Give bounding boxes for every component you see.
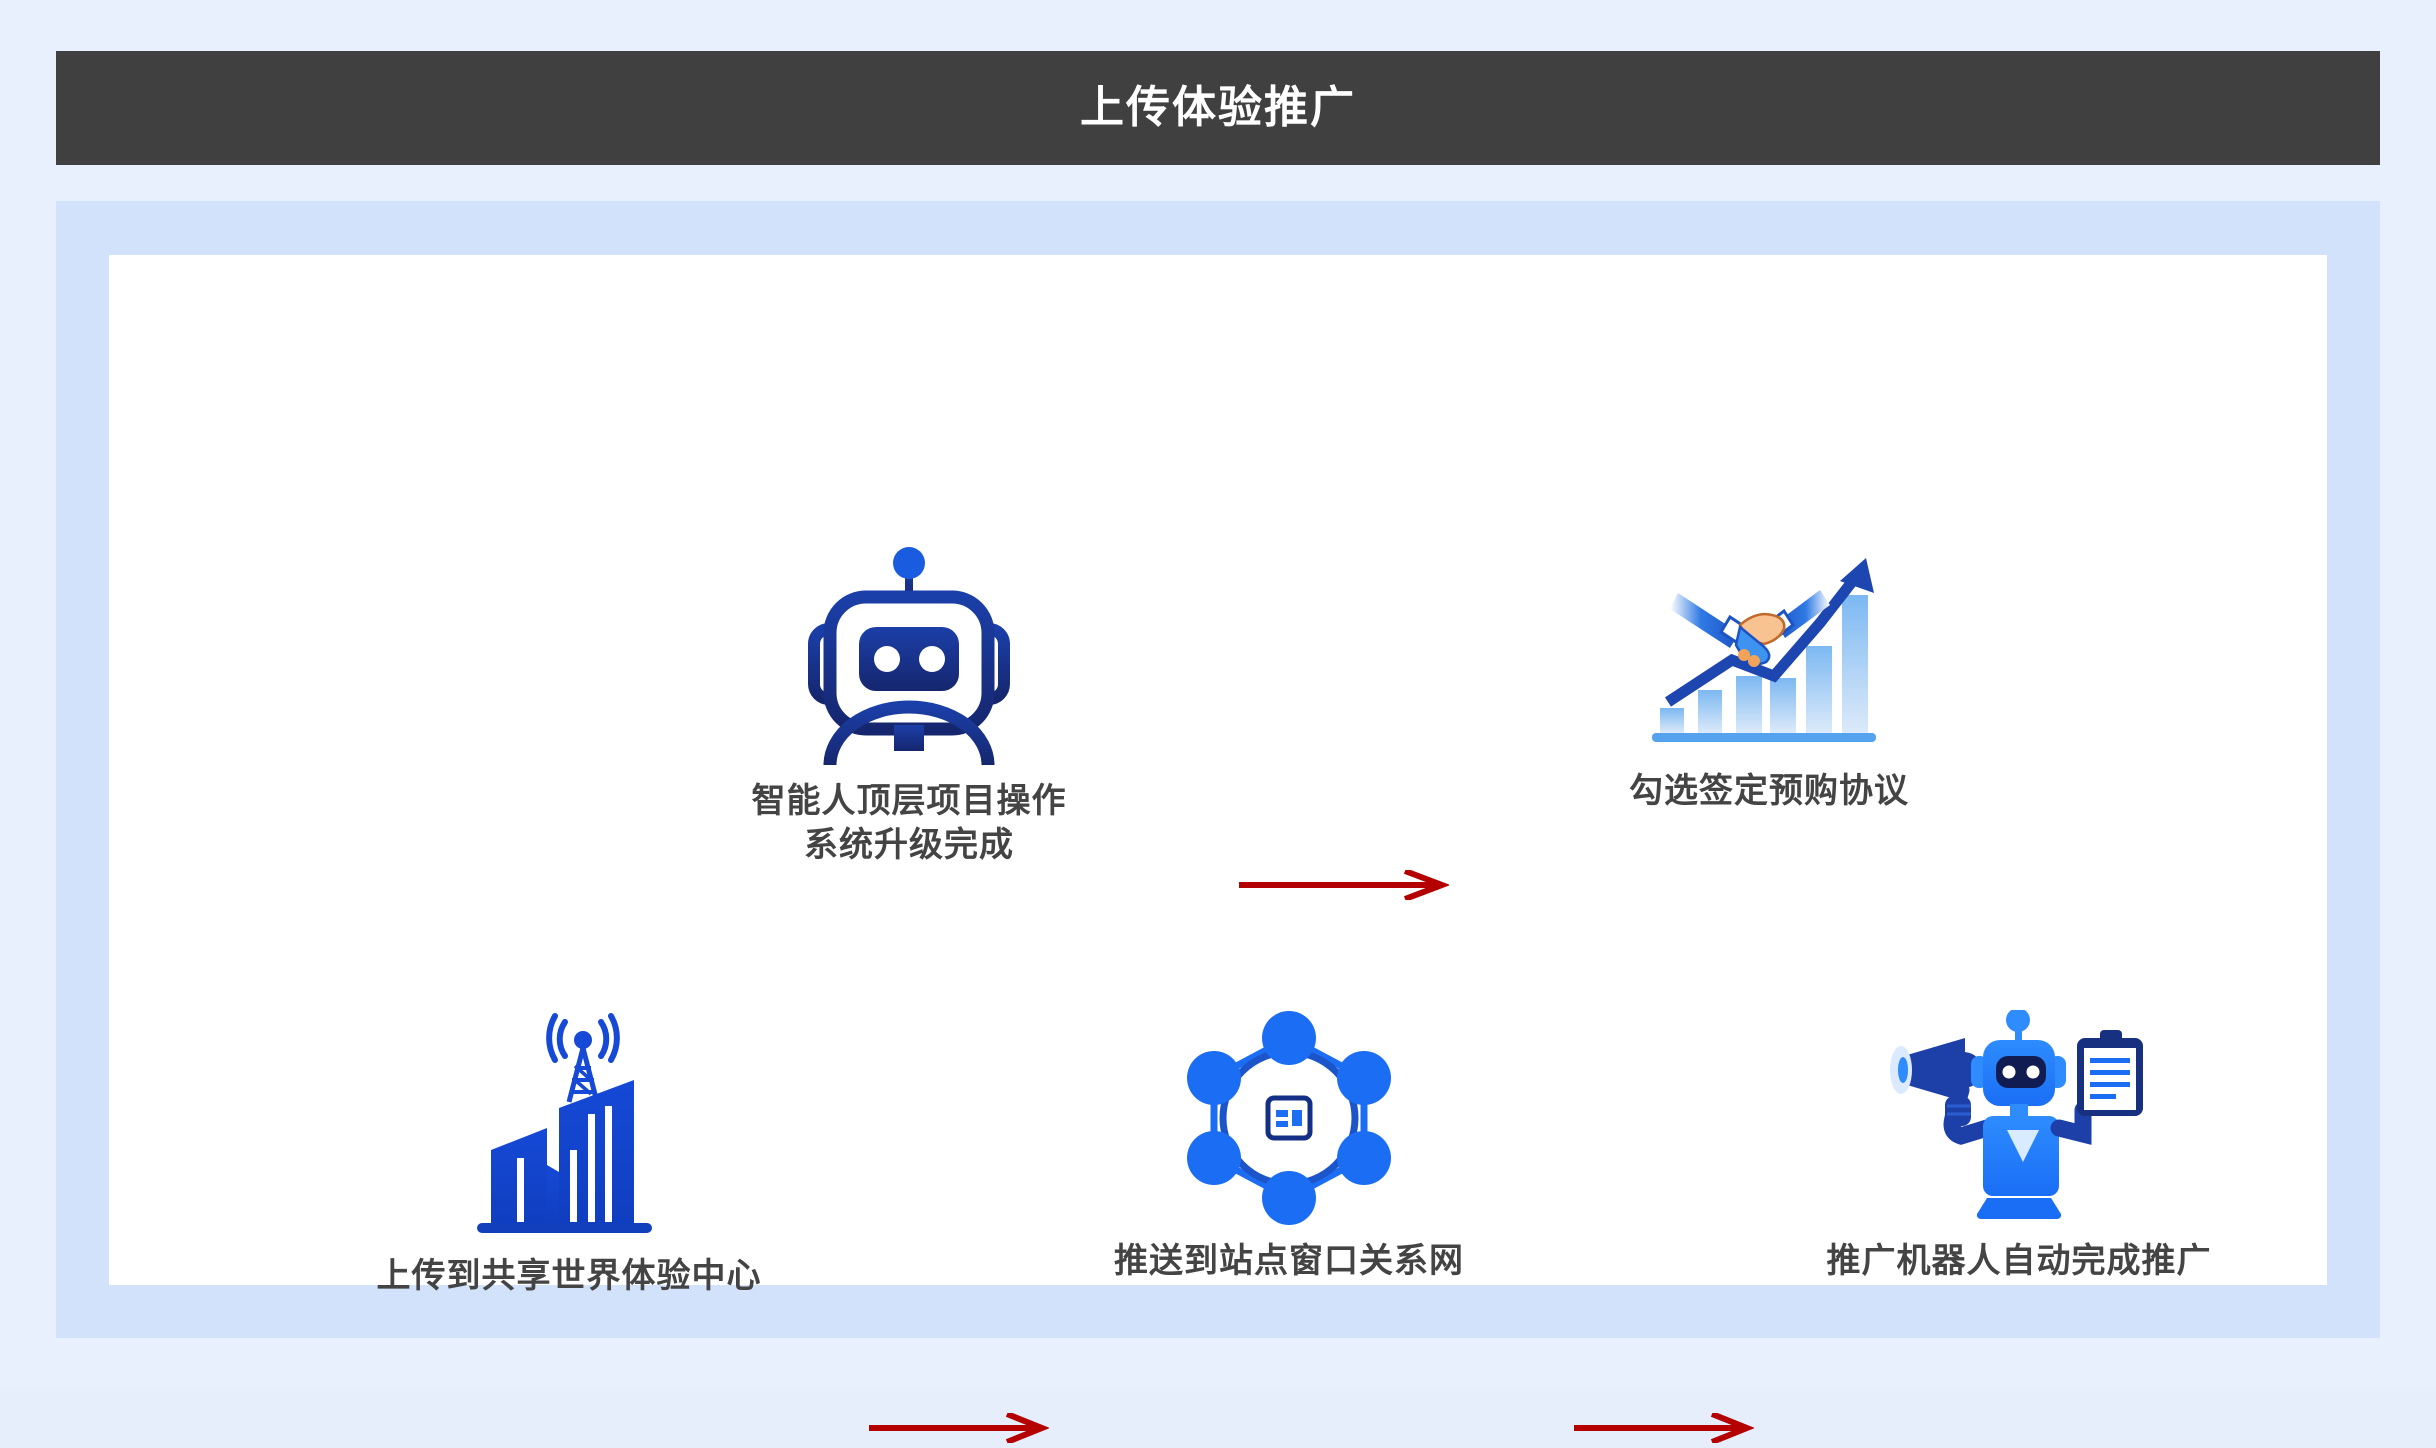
slide-root: 上传体验推广 [0,0,2436,1388]
handshake-growth-chart-icon [1644,545,1894,760]
arrow-right-icon-robot-to-handshake [1239,870,1449,900]
flow-node-label: 推广机器人自动完成推广 [1827,1240,2212,1284]
city-broadcast-tower-icon [469,1010,669,1245]
robot-head-icon [804,545,1014,770]
flow-node-robot-os[interactable]: 智能人顶层项目操作 系统升级完成 [649,545,1169,867]
flow-node-site-network[interactable]: 推送到站点窗口关系网 [1029,1010,1549,1284]
network-nodes-icon [1182,1010,1397,1230]
page-title: 上传体验推广 [1080,86,1356,130]
flow-diagram-card: 智能人顶层项目操作 系统升级完成 [109,255,2327,1285]
arrow-right-icon-city-to-network [869,1413,1049,1443]
flow-node-label: 勾选签定预购协议 [1629,770,1909,814]
flow-node-label: 智能人顶层项目操作 系统升级完成 [752,780,1067,867]
flow-node-promo-robot[interactable]: 推广机器人自动完成推广 [1729,1010,2309,1284]
flow-node-upload-center[interactable]: 上传到共享世界体验中心 [289,1010,849,1299]
arrow-right-icon-network-to-promo [1574,1413,1754,1443]
header-bar: 上传体验推广 [56,51,2380,165]
megaphone-robot-icon [1879,1010,2159,1230]
flow-node-label: 上传到共享世界体验中心 [377,1255,762,1299]
flow-node-label: 推送到站点窗口关系网 [1114,1240,1464,1284]
flow-node-handshake-agreement[interactable]: 勾选签定预购协议 [1509,545,2029,814]
